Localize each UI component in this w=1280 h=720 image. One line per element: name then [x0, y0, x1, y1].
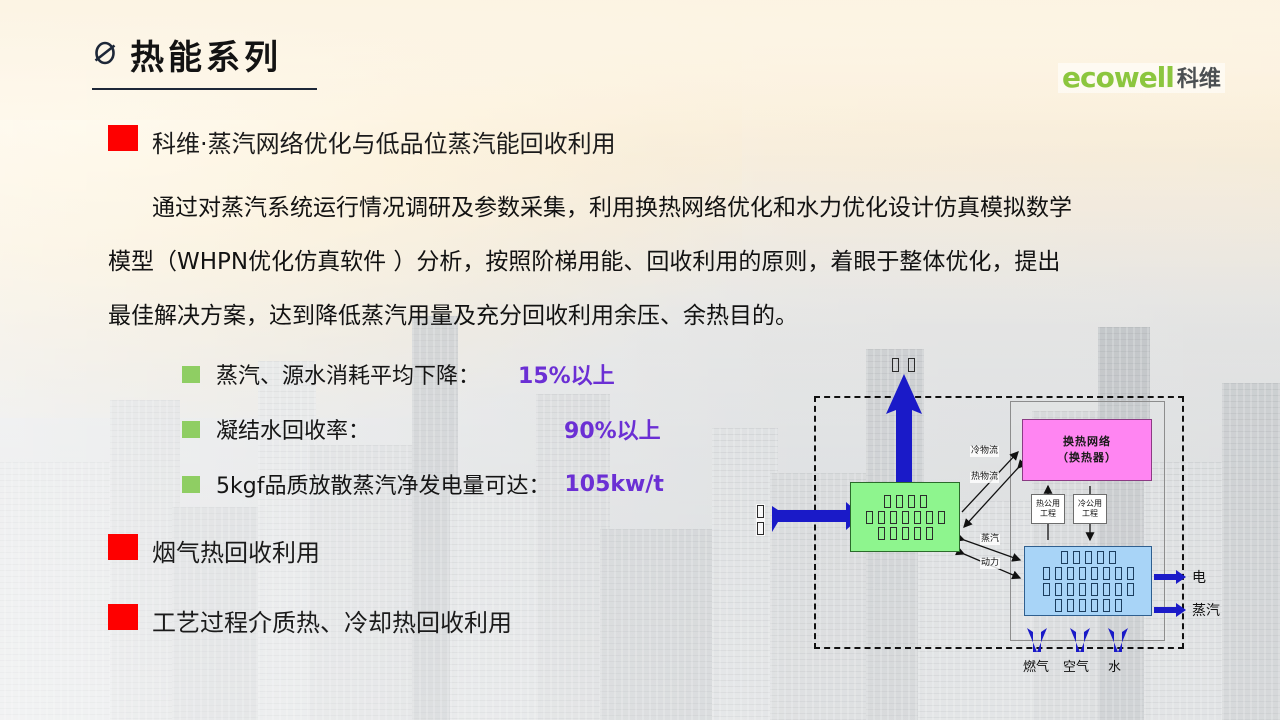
diagram-label-steam-stream: 蒸汽 — [980, 534, 1000, 545]
hot-utility-line2: 工程 — [1040, 509, 1056, 519]
ecowell-logo: ecowell 科维 — [1058, 63, 1225, 93]
logo-wordmark: ecowell — [1062, 64, 1174, 92]
paragraph-line-3: 最佳解决方案，达到降低蒸汽用量及充分回收利用余压、余热目的。 — [108, 289, 1266, 343]
logo-chinese-name: 科维 — [1177, 67, 1221, 92]
diagram-box-heat-exchange-network: 换热网络 （换热器） — [1022, 419, 1152, 481]
diagram-output-electricity: 电 — [1192, 567, 1206, 587]
diagram-label-power-stream: 动力 — [980, 558, 1000, 569]
metric-label-3: 5kgf品质放散蒸汽净发电量可达： — [216, 468, 550, 500]
diagram-input-fuel-gas: 燃气 — [1023, 656, 1049, 675]
metric-value-2: 90%以上 — [564, 413, 661, 445]
diagram-top-output-glyphs — [892, 358, 915, 372]
heat-network-label-line1: 换热网络 — [1063, 434, 1111, 450]
diagram-label-cold-stream: 冷物流 — [970, 446, 999, 457]
cold-utility-line1: 冷公用 — [1078, 499, 1102, 509]
metric-label-2: 凝结水回收率： — [216, 413, 370, 445]
metric-value-1: 15%以上 — [518, 358, 615, 390]
body-paragraph: 通过对蒸汽系统运行情况调研及参数采集，利用换热网络优化和水力优化设计仿真模拟数学… — [108, 181, 1266, 343]
main-heading: 科维·蒸汽网络优化与低品位蒸汽能回收利用 — [152, 124, 616, 159]
process-flow-diagram: 换热网络 （换热器） 热公用 工程 冷公用 工程 冷物流 热物流 蒸汽 动力 电… — [752, 352, 1280, 692]
cold-utility-line2: 工程 — [1082, 509, 1098, 519]
process-box-glyphs — [866, 495, 945, 540]
sub-heading-2: 工艺过程介质热、冷却热回收利用 — [152, 603, 512, 638]
hot-utility-line1: 热公用 — [1036, 499, 1060, 509]
bullet-green-1 — [182, 366, 200, 383]
diagram-output-steam: 蒸汽 — [1192, 600, 1220, 620]
diagram-box-process — [850, 482, 960, 552]
diagram-input-air: 空气 — [1063, 656, 1089, 675]
paragraph-line-1: 通过对蒸汽系统运行情况调研及参数采集，利用换热网络优化和水力优化设计仿真模拟数学 — [108, 181, 1266, 235]
bullet-red-sub-2 — [108, 604, 138, 630]
paragraph-line-2: 模型（WHPN优化仿真软件 ）分析，按照阶梯用能、回收利用的原则，着眼于整体优化… — [108, 235, 1266, 289]
metric-value-3: 105kw/t — [564, 472, 663, 497]
bullet-red-sub-1 — [108, 534, 138, 560]
heat-network-label-line2: （换热器） — [1057, 450, 1117, 466]
diagram-input-water: 水 — [1108, 656, 1121, 675]
metric-label-1: 蒸汽、源水消耗平均下降： — [216, 358, 480, 390]
bullet-green-2 — [182, 421, 200, 438]
metric-row-condensate: 凝结水回收率： 90%以上 — [182, 413, 661, 445]
slide-canvas: 热能系列 ecowell 科维 科维·蒸汽网络优化与低品位蒸汽能回收利用 通过对… — [0, 0, 1280, 720]
title-underline — [92, 88, 317, 90]
diagram-label-hot-utility: 热公用 工程 — [1031, 494, 1065, 524]
page-title: 热能系列 — [130, 30, 282, 79]
slashed-circle-icon — [92, 40, 118, 66]
sub-heading-1: 烟气热回收利用 — [152, 533, 320, 568]
utility-box-glyphs — [1043, 551, 1134, 612]
diagram-stream-arrows — [752, 352, 1280, 692]
metric-row-steam-water: 蒸汽、源水消耗平均下降： 15%以上 — [182, 358, 615, 390]
diagram-label-hot-stream: 热物流 — [970, 472, 999, 483]
diagram-label-cold-utility: 冷公用 工程 — [1073, 494, 1107, 524]
bullet-red-main — [108, 125, 138, 151]
diagram-left-input-glyphs — [756, 504, 765, 536]
diagram-box-utility-plant — [1024, 546, 1152, 616]
metric-row-power-gen: 5kgf品质放散蒸汽净发电量可达： 105kw/t — [182, 468, 664, 500]
bullet-green-3 — [182, 476, 200, 493]
